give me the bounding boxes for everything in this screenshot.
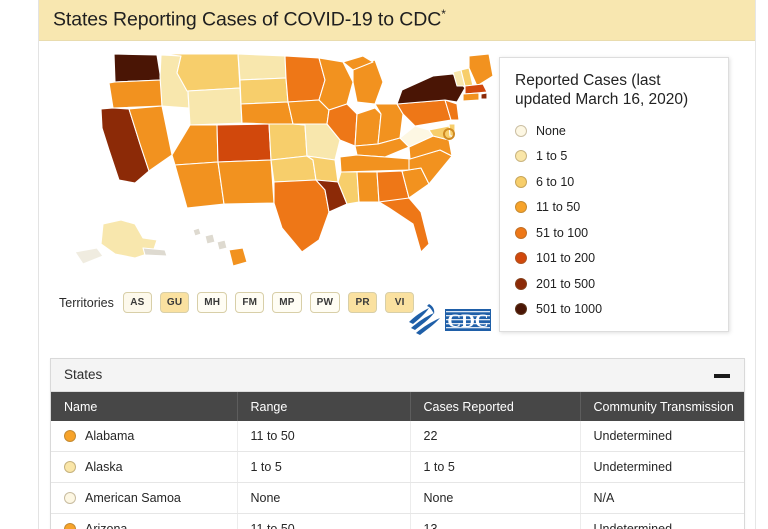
territory-chip-as-label: AS bbox=[130, 297, 144, 308]
column-header-cases[interactable]: Cases Reported bbox=[410, 392, 580, 421]
map-state-TN bbox=[340, 155, 410, 172]
right-gutter-rule bbox=[755, 0, 756, 529]
page-title-banner: States Reporting Cases of COVID-19 to CD… bbox=[39, 0, 755, 41]
map-state-NM bbox=[218, 160, 274, 204]
states-table-head: Name Range Cases Reported Community Tran… bbox=[51, 392, 744, 421]
table-row[interactable]: American Samoa None None N/A bbox=[51, 483, 744, 514]
row-status-dot bbox=[64, 461, 76, 473]
legend-label-1-5: 1 to 5 bbox=[536, 149, 567, 163]
column-header-range[interactable]: Range bbox=[237, 392, 410, 421]
legend-item-501-1000[interactable]: 501 to 1000 bbox=[515, 297, 720, 323]
cell-range: 11 to 50 bbox=[237, 421, 410, 452]
table-row[interactable]: Alabama 11 to 50 22 Undetermined bbox=[51, 421, 744, 452]
cell-range: None bbox=[237, 483, 410, 514]
page-root: States Reporting Cases of COVID-19 to CD… bbox=[0, 0, 768, 529]
collapse-icon[interactable] bbox=[712, 368, 732, 384]
territories-row: Territories AS GU MH FM MP PW PR bbox=[59, 292, 414, 313]
legend-item-101-200[interactable]: 101 to 200 bbox=[515, 246, 720, 272]
page-title-asterisk: * bbox=[441, 7, 446, 21]
legend-swatch-51-100 bbox=[515, 227, 527, 239]
legend-item-11-50[interactable]: 11 to 50 bbox=[515, 195, 720, 221]
legend-item-201-500[interactable]: 201 to 500 bbox=[515, 271, 720, 297]
states-panel-title: States bbox=[64, 367, 102, 382]
legend-label-11-50: 11 to 50 bbox=[536, 200, 580, 214]
cell-transmission: Undetermined bbox=[580, 421, 744, 452]
cell-name: Arizona bbox=[51, 514, 237, 529]
territory-chip-mh[interactable]: MH bbox=[197, 292, 227, 313]
legend-item-none[interactable]: None bbox=[515, 118, 720, 144]
row-status-dot bbox=[64, 430, 76, 442]
states-panel-header: States bbox=[51, 359, 744, 392]
map-state-TX bbox=[274, 180, 329, 252]
legend-item-6-10[interactable]: 6 to 10 bbox=[515, 169, 720, 195]
cell-transmission: N/A bbox=[580, 483, 744, 514]
territory-chip-fm-label: FM bbox=[242, 297, 257, 308]
map-state-IN bbox=[355, 108, 381, 146]
legend-swatch-6-10 bbox=[515, 176, 527, 188]
territories-label: Territories bbox=[59, 296, 114, 310]
legend-swatch-none bbox=[515, 125, 527, 137]
map-state-AK-islands bbox=[143, 248, 167, 256]
territory-chip-pw-label: PW bbox=[317, 297, 334, 308]
legend-label-6-10: 6 to 10 bbox=[536, 175, 574, 189]
territory-chip-mp-label: MP bbox=[279, 297, 294, 308]
legend-swatch-501-1000 bbox=[515, 303, 527, 315]
map-state-UT bbox=[172, 125, 218, 165]
page-title: States Reporting Cases of COVID-19 to CD… bbox=[53, 7, 446, 32]
table-row[interactable]: Arizona 11 to 50 13 Undetermined bbox=[51, 514, 744, 529]
states-table-body: Alabama 11 to 50 22 Undetermined Alaska bbox=[51, 421, 744, 529]
legend-swatch-101-200 bbox=[515, 252, 527, 264]
states-panel: States Name Range Cases Reported Communi… bbox=[50, 358, 745, 529]
legend-item-51-100[interactable]: 51 to 100 bbox=[515, 220, 720, 246]
legend-label-101-200: 101 to 200 bbox=[536, 251, 595, 265]
cell-name: Alaska bbox=[51, 452, 237, 483]
territory-chip-mh-label: MH bbox=[204, 297, 220, 308]
map-state-SD bbox=[240, 78, 288, 104]
map-state-WY bbox=[188, 88, 242, 125]
column-header-name[interactable]: Name bbox=[51, 392, 237, 421]
state-name: Alabama bbox=[85, 429, 134, 443]
map-state-HI-4 bbox=[229, 248, 247, 266]
row-status-dot bbox=[64, 492, 76, 504]
minus-icon bbox=[714, 374, 730, 378]
territory-chip-pr-label: PR bbox=[356, 297, 370, 308]
map-state-MN bbox=[285, 56, 325, 102]
row-status-dot bbox=[64, 523, 76, 529]
map-state-KS bbox=[269, 124, 307, 160]
hhs-eagle-icon bbox=[409, 304, 440, 335]
territory-chip-gu-label: GU bbox=[167, 297, 182, 308]
cell-name: American Samoa bbox=[51, 483, 237, 514]
legend-swatch-201-500 bbox=[515, 278, 527, 290]
territory-chip-pr[interactable]: PR bbox=[348, 292, 377, 313]
map-state-MA bbox=[465, 84, 487, 94]
cdc-hhs-logo: CDC bbox=[405, 300, 495, 338]
territory-chip-fm[interactable]: FM bbox=[235, 292, 264, 313]
legend-title: Reported Cases (last updated March 16, 2… bbox=[515, 71, 715, 109]
map-state-ME bbox=[469, 54, 493, 86]
cell-cases: 1 to 5 bbox=[410, 452, 580, 483]
states-table-header-row: Name Range Cases Reported Community Tran… bbox=[51, 392, 744, 421]
cell-cases: 22 bbox=[410, 421, 580, 452]
territory-chip-gu[interactable]: GU bbox=[160, 292, 189, 313]
legend-swatch-11-50 bbox=[515, 201, 527, 213]
map-state-HI-2 bbox=[205, 234, 215, 244]
territory-chip-mp[interactable]: MP bbox=[272, 292, 301, 313]
legend-label-201-500: 201 to 500 bbox=[536, 277, 595, 291]
states-table: Name Range Cases Reported Community Tran… bbox=[51, 392, 744, 529]
legend-item-1-5[interactable]: 1 to 5 bbox=[515, 144, 720, 170]
cell-range: 11 to 50 bbox=[237, 514, 410, 529]
cell-cases: 13 bbox=[410, 514, 580, 529]
map-state-CO bbox=[217, 124, 271, 162]
table-row[interactable]: Alaska 1 to 5 1 to 5 Undetermined bbox=[51, 452, 744, 483]
page-title-text: States Reporting Cases of COVID-19 to CD… bbox=[53, 9, 441, 31]
territory-chip-vi-label: VI bbox=[395, 297, 405, 308]
state-name: American Samoa bbox=[85, 491, 181, 505]
map-state-FL bbox=[379, 198, 429, 252]
map-state-OR bbox=[109, 80, 162, 108]
map-state-CT bbox=[463, 93, 479, 101]
map-state-WA bbox=[114, 54, 161, 82]
map-state-PA bbox=[397, 100, 451, 126]
column-header-transmission[interactable]: Community Transmission bbox=[580, 392, 744, 421]
map-state-AK-tail bbox=[75, 248, 103, 264]
map-state-HI-3 bbox=[217, 240, 227, 250]
territory-chip-as[interactable]: AS bbox=[123, 292, 152, 313]
cell-range: 1 to 5 bbox=[237, 452, 410, 483]
cdc-wordmark: CDC bbox=[445, 309, 491, 332]
map-state-RI bbox=[481, 93, 487, 99]
map-state-OK bbox=[271, 156, 316, 182]
svg-text:CDC: CDC bbox=[447, 311, 488, 332]
legend-swatch-1-5 bbox=[515, 150, 527, 162]
state-name: Alaska bbox=[85, 460, 123, 474]
cell-cases: None bbox=[410, 483, 580, 514]
map-state-NE bbox=[241, 102, 293, 124]
map-state-HI-1 bbox=[193, 228, 201, 236]
cell-transmission: Undetermined bbox=[580, 452, 744, 483]
legend-label-none: None bbox=[536, 124, 566, 138]
legend-label-501-1000: 501 to 1000 bbox=[536, 302, 602, 316]
cell-name: Alabama bbox=[51, 421, 237, 452]
legend-items: None 1 to 5 6 to 10 11 to 50 51 to 100 bbox=[515, 118, 720, 322]
us-choropleth-map[interactable] bbox=[57, 52, 527, 282]
map-state-ND bbox=[238, 54, 286, 80]
legend-label-51-100: 51 to 100 bbox=[536, 226, 588, 240]
cell-transmission: Undetermined bbox=[580, 514, 744, 529]
map-state-AZ bbox=[175, 162, 224, 208]
state-name: Arizona bbox=[85, 522, 127, 529]
map-panel: Territories AS GU MH FM MP PW PR bbox=[39, 42, 755, 342]
map-legend: Reported Cases (last updated March 16, 2… bbox=[499, 57, 729, 332]
map-state-AL bbox=[357, 172, 379, 202]
territory-chip-pw[interactable]: PW bbox=[310, 292, 341, 313]
